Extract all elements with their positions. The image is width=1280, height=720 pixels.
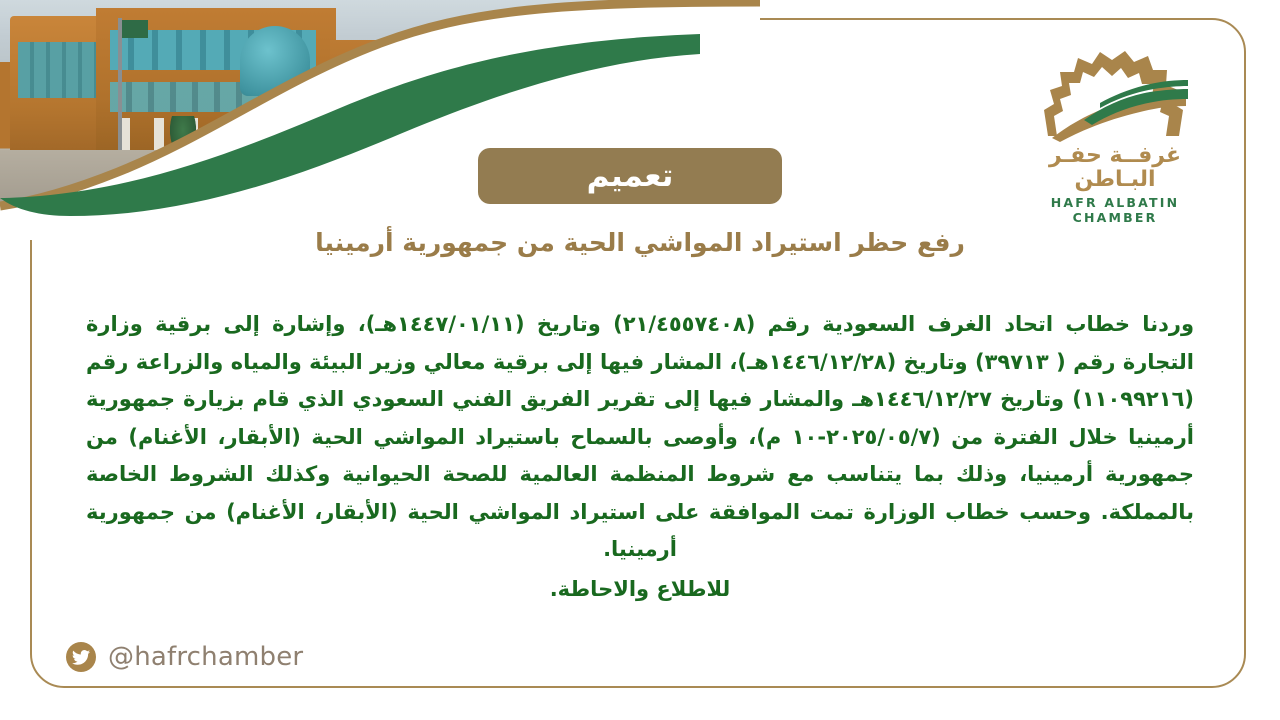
circular-title-text: تعميم [587,158,674,194]
circular-poster: غرفــة حفـر البـاطن HAFR ALBATIN CHAMBER… [0,0,1280,720]
circular-title-badge: تعميم [478,148,782,204]
body-closing: للاطلاع والاحاطة. [86,571,1194,609]
body-paragraph: وردنا خطاب اتحاد الغرف السعودية رقم (٢١/… [86,306,1194,569]
twitter-bird-icon[interactable] [66,642,96,672]
circular-body: وردنا خطاب اتحاد الغرف السعودية رقم (٢١/… [86,306,1194,608]
building-left-tower [10,16,106,166]
chamber-logo: غرفــة حفـر البـاطن HAFR ALBATIN CHAMBER [1012,46,1218,198]
page-title: رفع حظر استيراد المواشي الحية من جمهورية… [0,228,1280,257]
tree [170,116,196,156]
building-dome [240,26,310,96]
social-footer[interactable]: @hafrchamber [66,642,303,672]
twitter-handle[interactable]: @hafrchamber [108,642,303,672]
flag [122,20,148,38]
tree [300,116,326,156]
logo-arabic-name: غرفــة حفـر البـاطن [1012,144,1218,192]
chamber-crown-dunes-logo-icon [1030,46,1200,142]
tree [430,116,456,156]
twitter-bird-glyph [72,650,90,665]
flag-pole [118,18,122,168]
logo-english-name: HAFR ALBATIN CHAMBER [1012,195,1218,225]
